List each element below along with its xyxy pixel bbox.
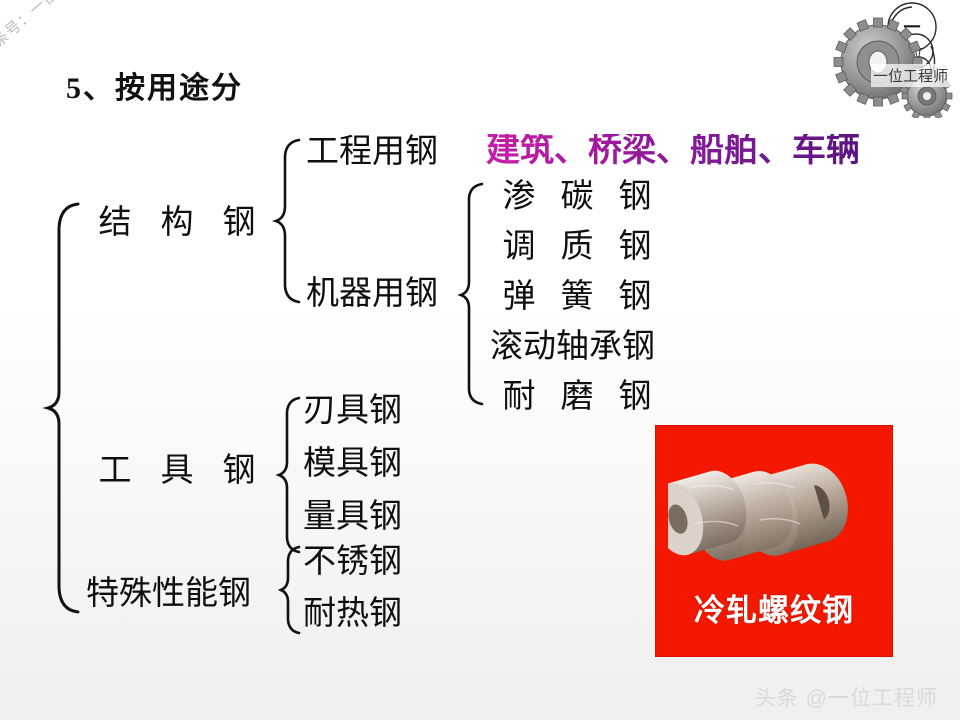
node-structural-steel[interactable]: 结构钢 xyxy=(84,207,270,240)
node-char: 磨 xyxy=(548,381,606,414)
node-char: 碳 xyxy=(548,181,606,214)
node-heat-resistant-steel[interactable]: 耐热钢 xyxy=(303,598,402,631)
gear-logo: 一 位 xyxy=(830,2,956,118)
logo-overlay-text: 一位工程师 xyxy=(871,64,950,87)
node-char: 结 xyxy=(84,207,146,240)
node-char: 钢 xyxy=(606,381,664,414)
rebar-photo: 冷轧螺纹钢 xyxy=(655,425,893,657)
node-char: 钢 xyxy=(208,455,270,488)
node-engineering-steel-applications: 建筑、桥梁、船舶、车辆 xyxy=(486,134,860,168)
node-char: 钢 xyxy=(606,181,664,214)
node-char: 工 xyxy=(84,455,146,488)
node-char: 构 xyxy=(146,207,208,240)
gear-logo-svg: 一 位 xyxy=(830,2,956,118)
node-wear-resistant-steel[interactable]: 耐磨钢 xyxy=(490,381,664,414)
node-char: 弹 xyxy=(490,281,548,314)
node-stainless-steel[interactable]: 不锈钢 xyxy=(303,546,402,579)
node-char: 钢 xyxy=(606,231,664,264)
node-char: 钢 xyxy=(208,207,270,240)
watermark-bottom: 头条 @一位工程师 xyxy=(755,682,938,712)
node-special-performance-steel[interactable]: 特殊性能钢 xyxy=(86,578,251,611)
node-char: 耐 xyxy=(490,381,548,414)
node-tool-steel[interactable]: 工具钢 xyxy=(84,455,270,488)
node-quenched-tempered-steel[interactable]: 调质钢 xyxy=(490,231,664,264)
node-die-steel[interactable]: 模具钢 xyxy=(303,448,402,481)
node-spring-steel[interactable]: 弹簧钢 xyxy=(490,281,664,314)
node-char: 具 xyxy=(146,455,208,488)
watermark-diagonal: 头条号：一位工程师 xyxy=(0,0,141,62)
photo-caption: 冷轧螺纹钢 xyxy=(656,585,892,630)
node-char: 钢 xyxy=(606,281,664,314)
node-char: 渗 xyxy=(490,181,548,214)
node-char: 簧 xyxy=(548,281,606,314)
node-carburizing-steel[interactable]: 渗碳钢 xyxy=(490,181,664,214)
rebar-coils-illustration xyxy=(668,454,882,572)
node-measuring-tool-steel[interactable]: 量具钢 xyxy=(303,501,402,534)
node-engineering-steel[interactable]: 工程用钢 xyxy=(306,136,438,169)
node-char: 调 xyxy=(490,231,548,264)
node-cutting-tool-steel[interactable]: 刃具钢 xyxy=(303,395,402,428)
node-char: 质 xyxy=(548,231,606,264)
node-rolling-bearing-steel[interactable]: 滚动轴承钢 xyxy=(490,331,655,364)
slide-canvas: 头条号：一位工程师 一 位 xyxy=(0,0,960,720)
page-title: 5、按用途分 xyxy=(66,63,243,107)
node-machine-steel[interactable]: 机器用钢 xyxy=(306,278,438,311)
